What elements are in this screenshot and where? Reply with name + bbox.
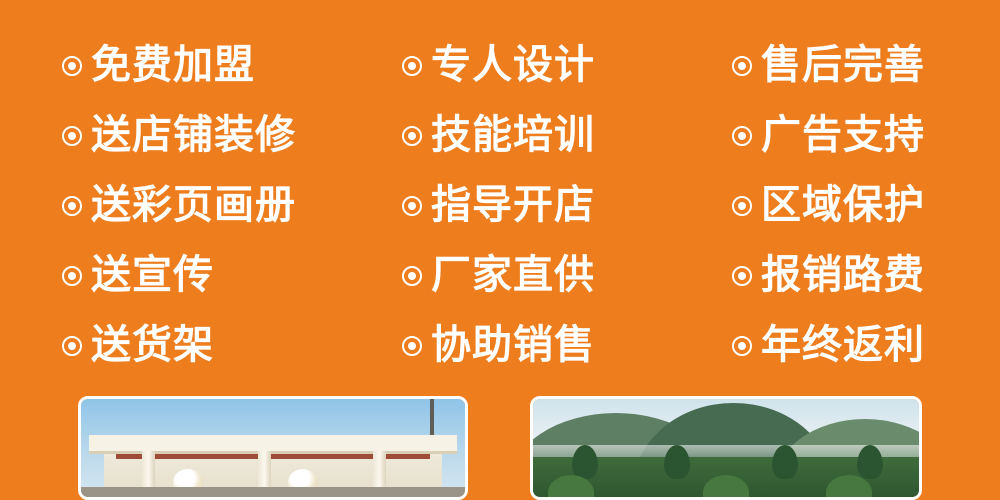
- benefit-item: 年终返利: [732, 310, 1000, 380]
- ring-bullet-icon: [732, 196, 752, 216]
- benefit-label: 协助销售: [431, 323, 595, 367]
- benefits-column-1: 免费加盟 送店铺装修 送彩页画册 送宣传 送货架: [0, 30, 330, 380]
- benefit-item: 送店铺装修: [62, 100, 330, 170]
- benefit-item: 送宣传: [62, 240, 330, 310]
- benefit-item: 送货架: [62, 310, 330, 380]
- benefit-label: 指导开店: [431, 183, 595, 227]
- benefit-label: 专人设计: [431, 43, 595, 87]
- benefit-item: 协助销售: [402, 310, 660, 380]
- ground: [81, 487, 465, 497]
- ring-bullet-icon: [732, 126, 752, 146]
- tree: [572, 445, 598, 479]
- benefit-item: 技能培训: [402, 100, 660, 170]
- ring-bullet-icon: [402, 336, 422, 356]
- ring-bullet-icon: [402, 56, 422, 76]
- benefit-item: 专人设计: [402, 30, 660, 100]
- benefit-item: 指导开店: [402, 170, 660, 240]
- ring-bullet-icon: [402, 126, 422, 146]
- benefit-label: 送彩页画册: [91, 183, 296, 227]
- ring-bullet-icon: [62, 196, 82, 216]
- benefit-item: 区域保护: [732, 170, 1000, 240]
- ring-bullet-icon: [732, 266, 752, 286]
- photo-mountain-landscape: [530, 396, 922, 500]
- promo-poster: 免费加盟 送店铺装修 送彩页画册 送宣传 送货架 专人设计: [0, 0, 1000, 500]
- benefit-label: 报销路费: [761, 253, 925, 297]
- benefit-item: 广告支持: [732, 100, 1000, 170]
- ring-bullet-icon: [62, 336, 82, 356]
- benefit-label: 区域保护: [761, 183, 925, 227]
- ring-bullet-icon: [62, 56, 82, 76]
- ring-bullet-icon: [732, 56, 752, 76]
- benefit-label: 厂家直供: [431, 253, 595, 297]
- benefit-label: 年终返利: [761, 323, 925, 367]
- ring-bullet-icon: [732, 336, 752, 356]
- benefit-label: 广告支持: [761, 113, 925, 157]
- benefit-item: 厂家直供: [402, 240, 660, 310]
- benefit-label: 送货架: [91, 323, 214, 367]
- ring-bullet-icon: [62, 266, 82, 286]
- benefit-item: 送彩页画册: [62, 170, 330, 240]
- benefit-item: 售后完善: [732, 30, 1000, 100]
- photo-storefront-building: [78, 396, 468, 500]
- benefits-grid: 免费加盟 送店铺装修 送彩页画册 送宣传 送货架 专人设计: [0, 30, 1000, 380]
- ring-bullet-icon: [402, 196, 422, 216]
- benefit-label: 售后完善: [761, 43, 925, 87]
- ring-bullet-icon: [402, 266, 422, 286]
- ring-bullet-icon: [62, 126, 82, 146]
- benefit-label: 送店铺装修: [91, 113, 296, 157]
- benefits-column-2: 专人设计 技能培训 指导开店 厂家直供 协助销售: [330, 30, 660, 380]
- benefit-item: 报销路费: [732, 240, 1000, 310]
- photo-strip: [0, 396, 1000, 500]
- benefits-column-3: 售后完善 广告支持 区域保护 报销路费 年终返利: [660, 30, 1000, 380]
- cornice: [89, 435, 458, 451]
- benefit-item: 免费加盟: [62, 30, 330, 100]
- benefit-label: 送宣传: [91, 253, 214, 297]
- benefit-label: 免费加盟: [91, 43, 255, 87]
- benefit-label: 技能培训: [431, 113, 595, 157]
